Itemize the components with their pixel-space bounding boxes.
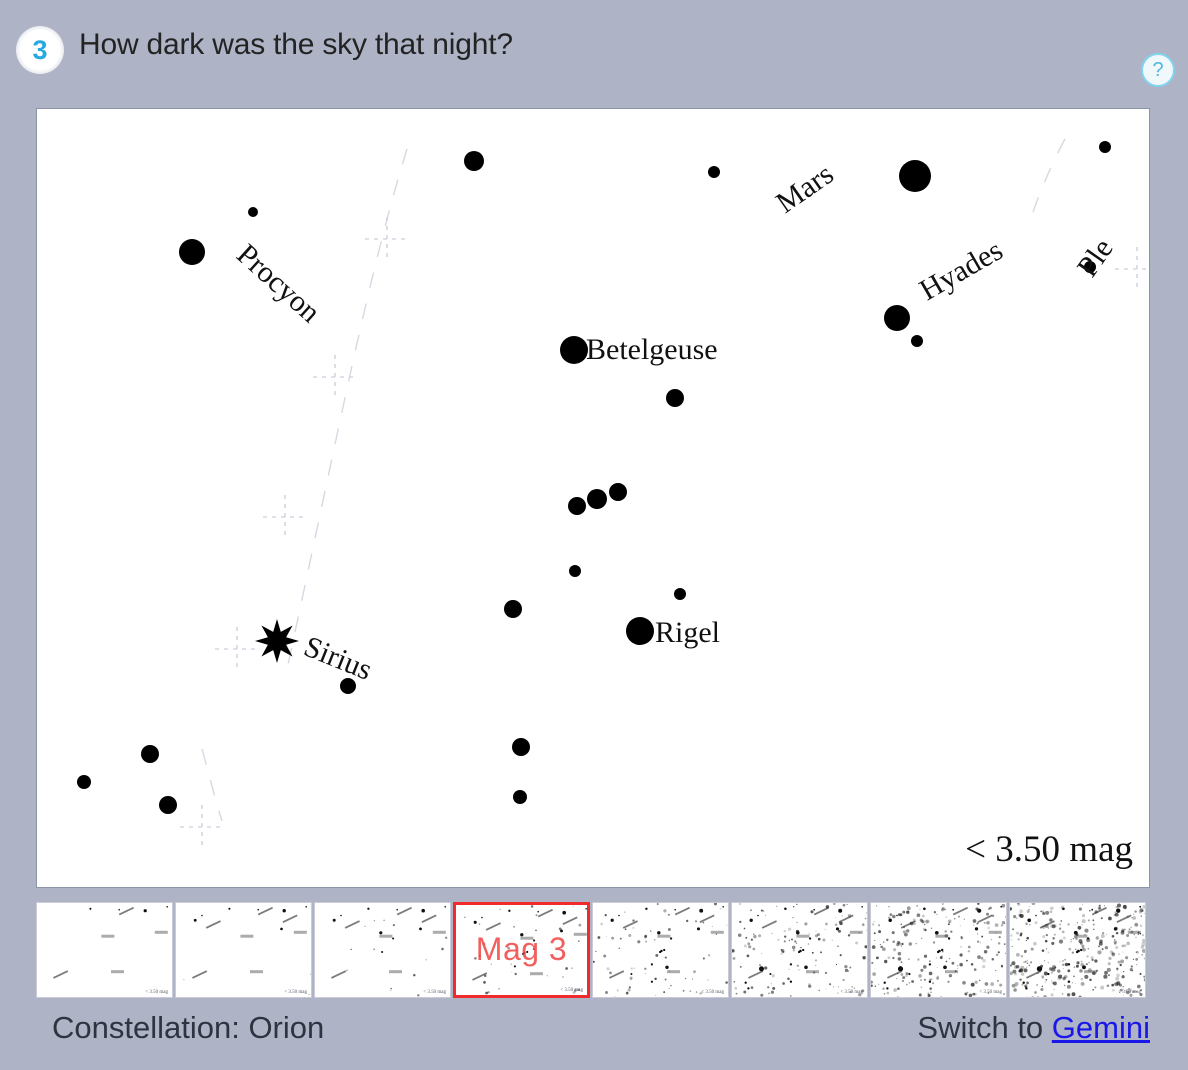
thumbnail-corner-label: < 3.50 mag <box>979 990 1002 995</box>
thumbnail-corner-label: < 3.50 mag <box>145 990 168 995</box>
magnitude-thumbnail[interactable]: Mag 3< 3.50 mag <box>453 902 590 998</box>
star-dot <box>179 239 205 265</box>
star-dot <box>884 305 910 331</box>
star-dot <box>560 336 588 364</box>
thumbnail-corner-label: < 3.50 mag <box>701 990 724 995</box>
header-bar: 3 How dark was the sky that night? ? <box>0 0 1188 104</box>
constellation-status: Constellation: Orion <box>52 1010 324 1046</box>
thumbnail-corner-label: < 3.50 mag <box>560 988 583 993</box>
magnitude-thumbnail[interactable]: < 3.50 mag <box>1009 902 1146 998</box>
thumbnail-sky-preview <box>456 905 590 998</box>
switch-prefix-label: Switch to <box>917 1010 1051 1045</box>
star-name-label: Sirius <box>299 630 376 687</box>
star-dot <box>899 160 931 192</box>
star-dot <box>674 588 686 600</box>
star-name-label: Ple <box>1071 233 1120 283</box>
star-layer <box>77 141 1111 814</box>
star-chart-canvas: ProcyonMarsHyadesPleBetelgeuseRigelSiriu… <box>37 109 1149 887</box>
star-name-label: Rigel <box>655 616 720 649</box>
star-dot <box>504 600 522 618</box>
thumbnail-corner-label: < 3.50 mag <box>284 990 307 995</box>
star-dot <box>77 775 91 789</box>
star-chart[interactable]: ProcyonMarsHyadesPleBetelgeuseRigelSiriu… <box>36 108 1150 888</box>
switch-constellation-link[interactable]: Gemini <box>1052 1010 1150 1045</box>
star-dot <box>626 617 654 645</box>
star-dot <box>568 497 586 515</box>
magnitude-thumbnail-strip[interactable]: < 3.50 mag< 3.50 mag< 3.50 magMag 3< 3.5… <box>36 902 1150 998</box>
thumbnail-corner-label: < 3.50 mag <box>1118 990 1141 995</box>
coordinate-grid <box>180 139 1149 849</box>
star-dot <box>666 389 684 407</box>
page-title: How dark was the sky that night? <box>79 28 513 62</box>
switch-constellation-row: Switch to Gemini <box>917 1010 1150 1046</box>
star-dot <box>911 335 923 347</box>
help-icon[interactable]: ? <box>1141 53 1175 87</box>
magnitude-limit-label: < 3.50 mag <box>965 828 1133 871</box>
thumbnail-sky-preview <box>732 903 868 998</box>
bright-star-glyph <box>255 619 299 663</box>
star-dot <box>141 745 159 763</box>
magnitude-thumbnail[interactable]: < 3.50 mag <box>36 902 173 998</box>
star-name-label: Procyon <box>230 238 326 329</box>
magnitude-thumbnail[interactable]: < 3.50 mag <box>592 902 729 998</box>
star-name-label: Hyades <box>914 233 1008 307</box>
star-dot <box>248 207 258 217</box>
star-name-label: Mars <box>770 157 839 219</box>
thumbnail-sky-preview <box>176 903 312 998</box>
star-dot <box>513 790 527 804</box>
star-label-layer: ProcyonMarsHyadesPleBetelgeuseRigelSiriu… <box>230 157 1119 686</box>
star-dot <box>1099 141 1111 153</box>
thumbnail-sky-preview <box>315 903 451 998</box>
magnitude-thumbnail[interactable]: < 3.50 mag <box>731 902 868 998</box>
star-name-label: Betelgeuse <box>586 333 718 366</box>
star-dot <box>587 489 607 509</box>
step-number-badge: 3 <box>16 26 64 74</box>
magnitude-thumbnail[interactable]: < 3.50 mag <box>314 902 451 998</box>
thumbnail-corner-label: < 3.50 mag <box>423 990 446 995</box>
thumbnail-sky-preview <box>37 903 173 998</box>
magnitude-thumbnail[interactable]: < 3.50 mag <box>175 902 312 998</box>
star-dot <box>159 796 177 814</box>
thumbnail-sky-preview <box>1010 903 1146 998</box>
star-dot <box>512 738 530 756</box>
thumbnail-corner-label: < 3.50 mag <box>840 990 863 995</box>
star-dot <box>609 483 627 501</box>
star-dot <box>708 166 720 178</box>
thumbnail-sky-preview <box>593 903 729 998</box>
thumbnail-sky-preview <box>871 903 1007 998</box>
star-dot <box>464 151 484 171</box>
footer-bar: Constellation: Orion Switch to Gemini <box>0 1002 1188 1070</box>
star-dot <box>569 565 581 577</box>
magnitude-thumbnail[interactable]: < 3.50 mag <box>870 902 1007 998</box>
